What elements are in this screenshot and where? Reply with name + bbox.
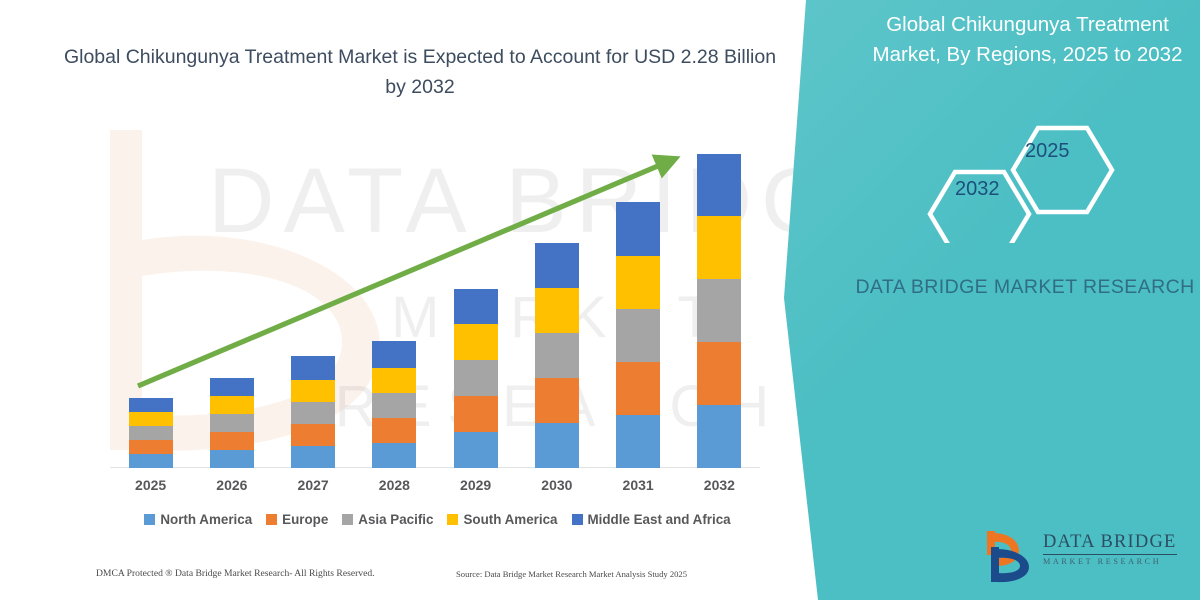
bar-segment <box>535 288 579 333</box>
bar-segment <box>210 432 254 450</box>
infographic-canvas: DATA BRIDGE MARKET RESEARCH Global Chiku… <box>0 0 1200 600</box>
legend-swatch <box>572 514 583 525</box>
legend-item[interactable]: Asia Pacific <box>342 512 433 527</box>
bar-segment <box>210 396 254 414</box>
logo-wordmark: DATA BRIDGE MARKET RESEARCH <box>1043 532 1193 566</box>
legend-item[interactable]: Middle East and Africa <box>572 512 731 527</box>
year-hexagon-group: 2032 2025 <box>910 108 1140 243</box>
bar-segment <box>616 362 660 415</box>
bar-segment <box>697 342 741 405</box>
stacked-bar-plot <box>110 120 760 468</box>
logo-line-2: MARKET RESEARCH <box>1043 557 1193 566</box>
data-bridge-logo: DATA BRIDGE MARKET RESEARCH <box>985 527 1195 589</box>
bar-segment <box>129 412 173 426</box>
bar-column <box>291 356 335 468</box>
bar-segment <box>291 380 335 402</box>
bar-column <box>616 202 660 468</box>
bar-segment <box>616 256 660 309</box>
bar-segment <box>210 414 254 432</box>
x-axis-tick-label: 2029 <box>441 477 511 493</box>
hexagon-label-start-year: 2032 <box>955 178 1000 201</box>
bar-segment <box>129 426 173 440</box>
hexagon-label-end-year: 2025 <box>1025 140 1070 163</box>
bar-segment <box>372 418 416 443</box>
legend-swatch <box>342 514 353 525</box>
legend-label: Middle East and Africa <box>588 512 731 527</box>
bar-segment <box>535 333 579 378</box>
bar-segment <box>129 454 173 468</box>
bar-segment <box>129 440 173 454</box>
bar-column <box>535 243 579 468</box>
legend-swatch <box>447 514 458 525</box>
bar-column <box>129 398 173 468</box>
x-axis-tick-label: 2032 <box>684 477 754 493</box>
bar-segment <box>616 309 660 362</box>
bar-segment <box>697 405 741 468</box>
legend-label: Asia Pacific <box>358 512 433 527</box>
source-notice: Source: Data Bridge Market Research Mark… <box>456 569 687 579</box>
legend-item[interactable]: Europe <box>266 512 328 527</box>
bar-segment <box>697 216 741 279</box>
bar-segment <box>291 446 335 468</box>
bar-segment <box>291 356 335 380</box>
bar-segment <box>616 415 660 468</box>
x-axis-tick-label: 2030 <box>522 477 592 493</box>
logo-line-1: DATA BRIDGE <box>1043 532 1177 555</box>
legend-label: Europe <box>282 512 328 527</box>
hexagon-outlines-icon <box>910 108 1140 243</box>
side-panel-brand: DATA BRIDGE MARKET RESEARCH <box>850 272 1200 302</box>
chart-legend: North AmericaEuropeAsia PacificSouth Ame… <box>110 512 765 527</box>
bar-segment <box>210 450 254 468</box>
x-axis-labels: 20252026202720282029203020312032 <box>110 477 760 499</box>
legend-item[interactable]: South America <box>447 512 557 527</box>
bar-segment <box>535 378 579 423</box>
legend-item[interactable]: North America <box>144 512 252 527</box>
legend-swatch <box>144 514 155 525</box>
bar-segment <box>129 398 173 412</box>
bar-segment <box>454 396 498 432</box>
legend-label: North America <box>160 512 252 527</box>
bar-segment <box>454 360 498 396</box>
bar-segment <box>291 402 335 424</box>
side-panel-title: Global Chikungunya Treatment Market, By … <box>865 10 1190 70</box>
bar-column <box>697 154 741 468</box>
growth-trend-arrow-icon <box>110 120 760 468</box>
bar-column <box>210 378 254 468</box>
bar-segment <box>454 289 498 324</box>
bar-segment <box>372 393 416 418</box>
x-axis-tick-label: 2025 <box>116 477 186 493</box>
bar-segment <box>697 279 741 342</box>
x-axis-tick-label: 2026 <box>197 477 267 493</box>
bar-segment <box>616 202 660 256</box>
bar-segment <box>372 443 416 468</box>
bar-segment <box>372 341 416 368</box>
legend-swatch <box>266 514 277 525</box>
bar-segment <box>210 378 254 396</box>
bar-segment <box>454 324 498 360</box>
bar-column <box>454 289 498 468</box>
bar-segment <box>291 424 335 446</box>
bar-segment <box>535 423 579 468</box>
page-title: Global Chikungunya Treatment Market is E… <box>60 42 780 102</box>
x-axis-tick-label: 2031 <box>603 477 673 493</box>
bar-segment <box>372 368 416 393</box>
bar-segment <box>454 432 498 468</box>
bar-segment <box>535 243 579 288</box>
legend-label: South America <box>463 512 557 527</box>
data-bridge-mark-icon <box>985 527 1043 585</box>
bar-segment <box>697 154 741 216</box>
copyright-notice: DMCA Protected ® Data Bridge Market Rese… <box>96 568 375 579</box>
x-axis-tick-label: 2028 <box>359 477 429 493</box>
bar-column <box>372 341 416 468</box>
side-panel: Global Chikungunya Treatment Market, By … <box>770 0 1200 600</box>
x-axis-tick-label: 2027 <box>278 477 348 493</box>
